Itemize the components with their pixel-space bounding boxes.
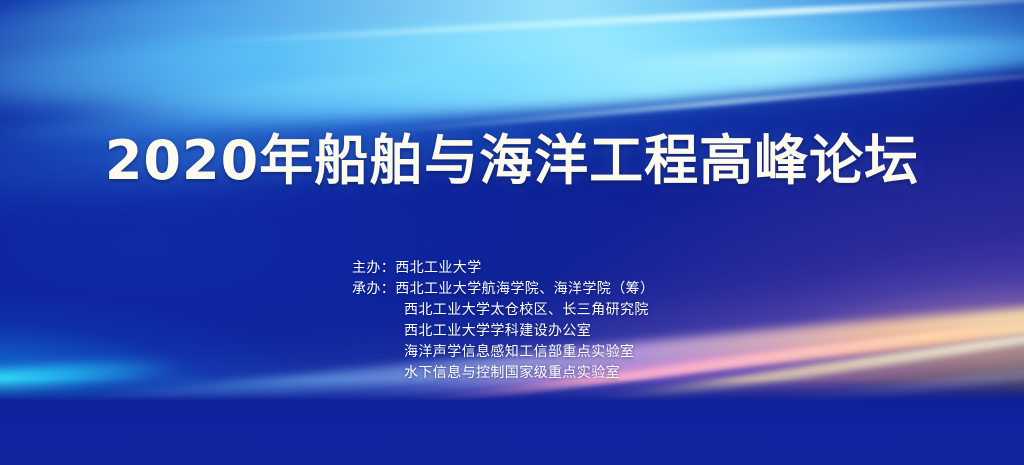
credit-line-coorganizer-1: 西北工业大学太仓校区、长三角研究院 xyxy=(352,300,654,321)
credit-line-coorganizer-3: 海洋声学信息感知工信部重点实验室 xyxy=(352,342,654,363)
credit-line-coorganizer-4: 水下信息与控制国家级重点实验室 xyxy=(352,363,654,384)
conference-poster: 2020年船舶与海洋工程高峰论坛 主办：西北工业大学 承办：西北工业大学航海学院… xyxy=(0,0,1024,465)
poster-content: 2020年船舶与海洋工程高峰论坛 主办：西北工业大学 承办：西北工业大学航海学院… xyxy=(0,0,1024,465)
credit-line-host: 主办：西北工业大学 xyxy=(352,258,654,279)
organizer-credits: 主办：西北工业大学 承办：西北工业大学航海学院、海洋学院（筹） 西北工业大学太仓… xyxy=(352,258,654,384)
credit-line-organizer: 承办：西北工业大学航海学院、海洋学院（筹） xyxy=(352,279,654,300)
page-title: 2020年船舶与海洋工程高峰论坛 xyxy=(0,116,1024,195)
credit-line-coorganizer-2: 西北工业大学学科建设办公室 xyxy=(352,321,654,342)
